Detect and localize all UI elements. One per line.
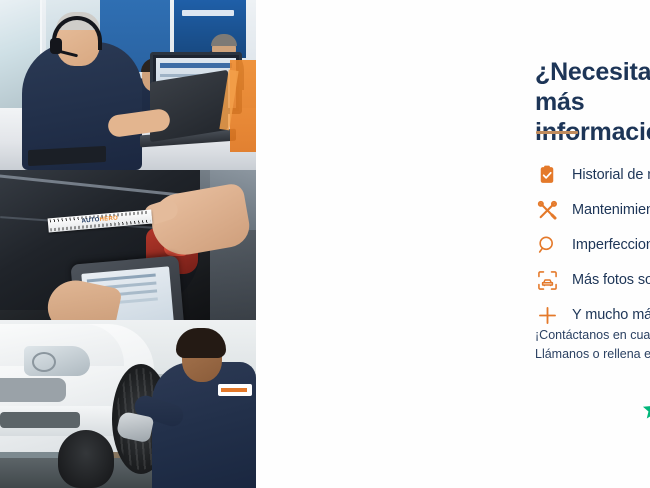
car-headlight: [24, 346, 90, 376]
info-panel: ¿Necesitas más información? Estamos enca…: [256, 0, 650, 488]
feature-label: Mantenimiento realizado: [572, 202, 650, 218]
feature-label: Y mucho más: [572, 307, 650, 323]
plus-icon: [534, 302, 560, 328]
bumper-air-intake: [0, 412, 80, 428]
info-promo-card: AUTOHERO: [0, 0, 650, 488]
car-inspection-ruler-photo: AUTOHERO: [0, 170, 256, 320]
feature-label: Historial de mantenimientos: [572, 167, 650, 183]
trustpilot-widget[interactable]: Trustpilot Excelente EMPRESA VERIFICADA: [642, 386, 650, 450]
laptop-screen: [150, 70, 228, 142]
call-centre-agents-photo: [0, 0, 256, 170]
car-grille: [0, 378, 66, 402]
photo-collage: AUTOHERO: [0, 0, 256, 488]
trustpilot-logo: Trustpilot: [642, 398, 650, 420]
feature-list: Historial de mantenimientos Mantenimient…: [534, 158, 650, 333]
feature-label: Imperfecciones: [572, 237, 650, 253]
feature-label: Más fotos sobre el coche: [572, 272, 650, 288]
contact-paragraph: ¡Contáctanos en cualquier momento para m…: [535, 326, 650, 364]
mechanic-hair: [176, 328, 226, 358]
magnifier-icon: [534, 232, 560, 258]
feature-item-imperfections: Imperfecciones: [534, 228, 650, 262]
wrench-screwdriver-icon: [534, 197, 560, 223]
feature-item-more-photos: Más fotos sobre el coche: [534, 263, 650, 297]
feature-item-maintenance-history: Historial de mantenimientos: [534, 158, 650, 192]
mounted-wheel: [58, 430, 114, 488]
title-divider: [536, 131, 578, 134]
feature-item-maintenance-done: Mantenimiento realizado: [534, 193, 650, 227]
uniform-logo: [218, 384, 252, 396]
clipboard-check-icon: [534, 162, 560, 188]
car-scan-icon: [534, 267, 560, 293]
mechanic-wheel-photo: [0, 320, 256, 488]
trustpilot-star-icon: [642, 398, 650, 420]
